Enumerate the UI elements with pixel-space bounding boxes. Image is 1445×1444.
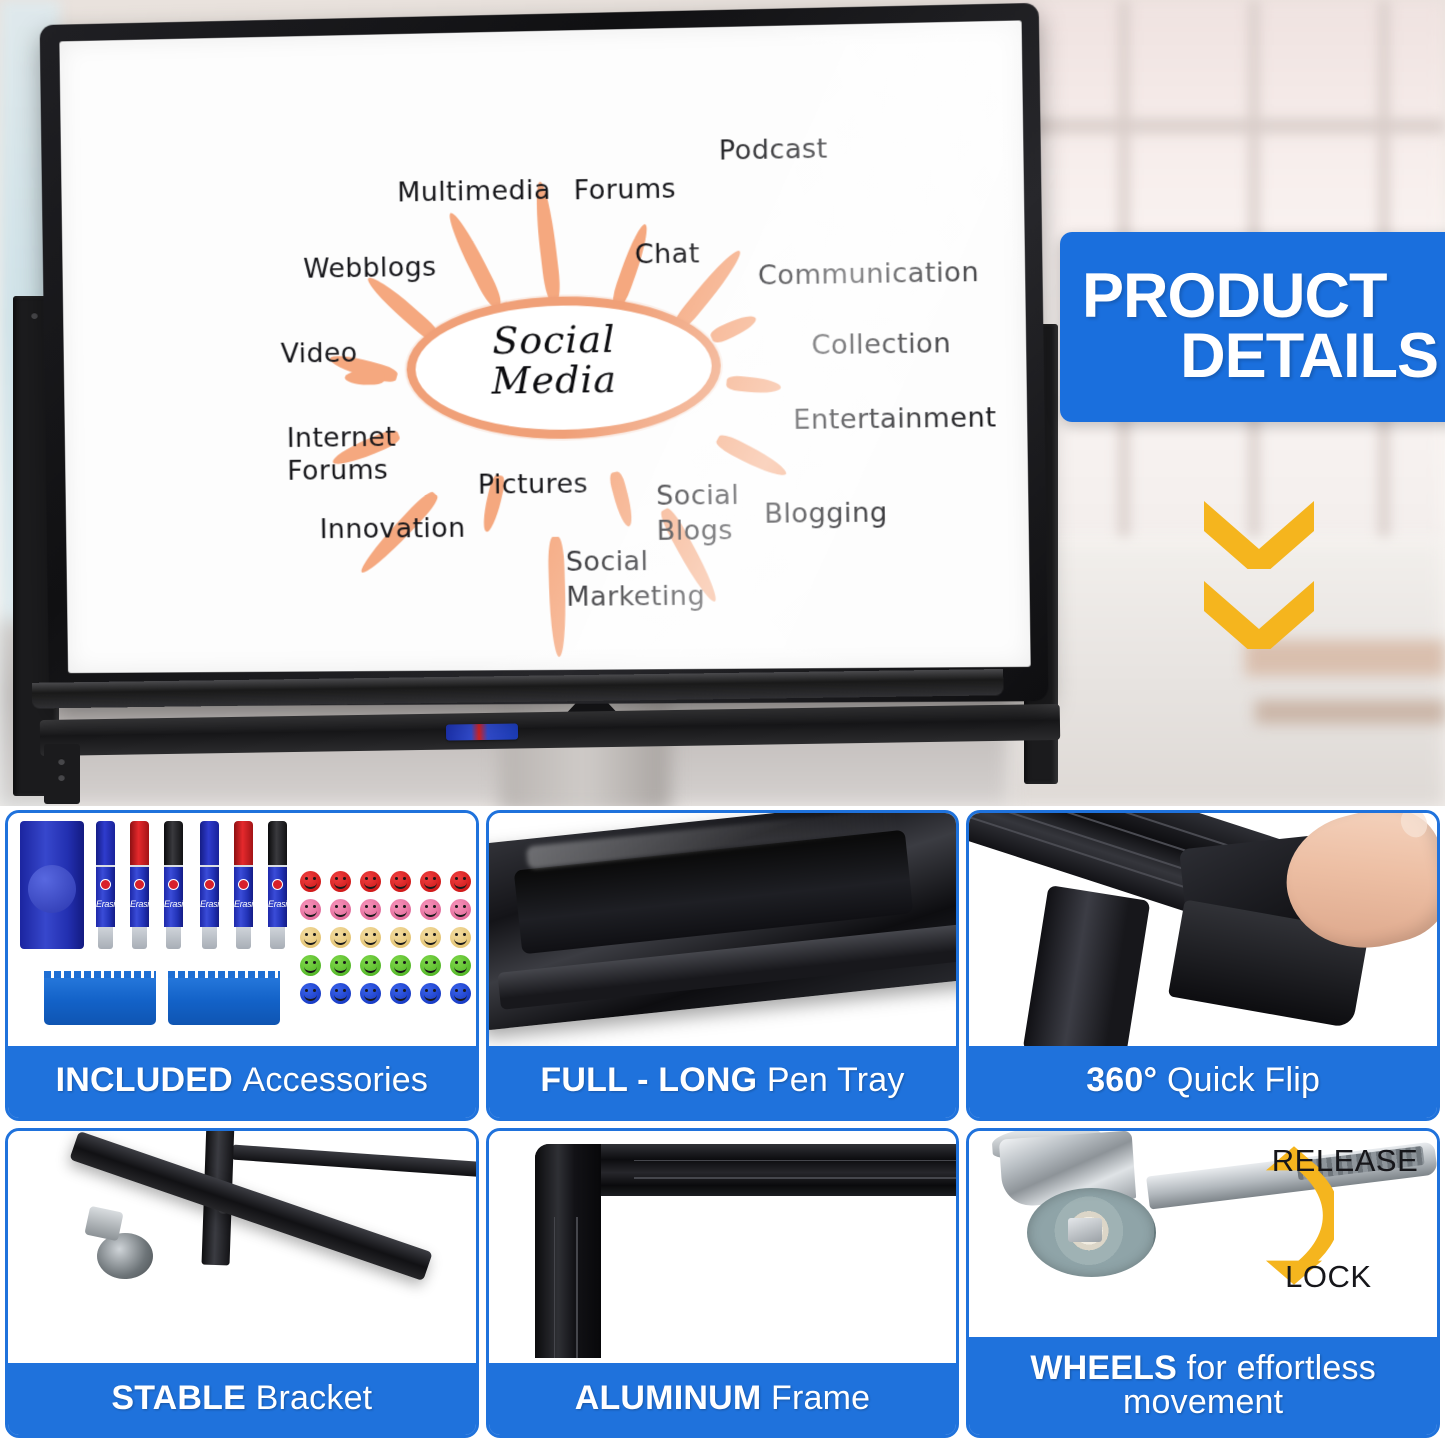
mindmap-node-communication: Communication xyxy=(758,258,980,292)
sunburst-ray xyxy=(726,375,782,395)
caption-rest: for effortless xyxy=(1187,1349,1376,1387)
eraser xyxy=(44,971,156,1025)
caption-rest: Frame xyxy=(771,1381,870,1416)
sunburst-ray xyxy=(714,432,790,481)
caster-assembly xyxy=(988,1135,1203,1284)
mindmap-center-line1: Social xyxy=(406,319,703,363)
hero-section: Social Media Podcast Multimedia Forums C… xyxy=(0,0,1445,806)
social-media-mindmap: Social Media Podcast Multimedia Forums C… xyxy=(59,20,1030,673)
included-accessories-photo: Erasing Erasing Erasing Erasing Erasing … xyxy=(8,813,476,1046)
caption-bold: 360° xyxy=(1086,1063,1157,1098)
sunburst-ray xyxy=(709,311,759,345)
whiteboard: Social Media Podcast Multimedia Forums C… xyxy=(40,3,1049,707)
caption-rest: Quick Flip xyxy=(1167,1063,1320,1098)
marker-black: Erasing xyxy=(268,821,287,949)
mindmap-node-innovation: Innovation xyxy=(319,514,465,546)
annotation-lock: LOCK xyxy=(1285,1259,1371,1295)
caption-quick-flip: 360° Quick Flip xyxy=(969,1046,1437,1118)
sunburst-ray xyxy=(444,209,505,309)
fingernail xyxy=(1396,813,1432,842)
pen-tray-photo xyxy=(489,813,957,1046)
wheels-photo: RELEASE LOCK xyxy=(969,1131,1437,1338)
mindmap-node-webblogs: Webblogs xyxy=(303,253,437,285)
caption-bold: STABLE xyxy=(111,1381,246,1416)
pen-on-tray xyxy=(446,723,518,740)
caption-included-accessories: INCLUDED Accessories xyxy=(8,1046,476,1118)
feature-card-included-accessories[interactable]: Erasing Erasing Erasing Erasing Erasing … xyxy=(5,810,479,1121)
mindmap-node-video: Video xyxy=(280,339,357,370)
feature-card-quick-flip[interactable]: 360° Quick Flip xyxy=(966,810,1440,1121)
caption-bold: INCLUDED xyxy=(56,1063,233,1098)
mindmap-node-blogging: Blogging xyxy=(764,498,888,530)
mindmap-node-internet: Internet xyxy=(287,423,397,454)
sunburst-ray xyxy=(345,370,385,385)
background-desk xyxy=(1255,700,1445,724)
mindmap-node-multimedia: Multimedia xyxy=(397,176,551,209)
feature-card-wheels[interactable]: RELEASE LOCK WHEELS for effortless movem… xyxy=(966,1128,1440,1439)
mindmap-node-chat: Chat xyxy=(635,239,700,270)
feature-card-stable-bracket[interactable]: STABLE Bracket xyxy=(5,1128,479,1439)
product-details-line2: DETAILS xyxy=(1082,327,1442,387)
whiteboard-surface: Social Media Podcast Multimedia Forums C… xyxy=(59,20,1030,673)
mindmap-node-marketing: Marketing xyxy=(566,582,705,613)
caption-stable-bracket: STABLE Bracket xyxy=(8,1363,476,1435)
marker-red: Erasing xyxy=(234,821,253,949)
caster-wheel xyxy=(97,1233,153,1280)
feature-card-pen-tray[interactable]: FULL - LONG Pen Tray xyxy=(486,810,960,1121)
product-details-line1: PRODUCT xyxy=(1082,267,1442,327)
mindmap-center-label: Social Media xyxy=(406,319,703,403)
feature-card-aluminum-frame[interactable]: ALUMINUM Frame xyxy=(486,1128,960,1439)
chevron-down-icon xyxy=(1196,497,1322,569)
mindmap-node-social-mkt: Social xyxy=(566,547,649,578)
marker-blue: Erasing xyxy=(96,821,115,949)
stand-foot-left xyxy=(44,744,80,804)
bracket-horizontal-rail xyxy=(232,1144,475,1178)
mindmap-node-forums: Forums xyxy=(573,174,676,206)
caption-bold: ALUMINUM xyxy=(575,1381,762,1416)
mindmap-node-social: Social xyxy=(656,481,739,512)
annotation-release: RELEASE xyxy=(1272,1143,1419,1179)
sunburst-ray xyxy=(608,470,636,528)
mindmap-node-collection: Collection xyxy=(811,329,951,361)
stable-bracket-photo xyxy=(8,1131,476,1364)
marker-black: Erasing xyxy=(164,821,183,949)
caption-wheels: WHEELS for effortless movement xyxy=(969,1337,1437,1435)
caption-line2: movement xyxy=(1123,1385,1283,1419)
caption-bold: WHEELS xyxy=(1030,1349,1177,1387)
caption-rest: Accessories xyxy=(243,1063,428,1098)
caption-bold: FULL - LONG xyxy=(540,1063,757,1098)
flip-post xyxy=(1022,885,1150,1045)
product-detail-infographic: Social Media Podcast Multimedia Forums C… xyxy=(0,0,1445,1444)
quick-flip-photo xyxy=(969,813,1437,1046)
eraser xyxy=(168,971,280,1025)
marker-red: Erasing xyxy=(130,821,149,949)
caption-pen-tray: FULL - LONG Pen Tray xyxy=(489,1046,957,1118)
caption-aluminum-frame: ALUMINUM Frame xyxy=(489,1363,957,1435)
frame-left-rail xyxy=(535,1144,600,1358)
caster-axle-nut xyxy=(1068,1218,1102,1242)
mindmap-node-internet-forums: Forums xyxy=(287,456,388,487)
caption-rest: Pen Tray xyxy=(767,1063,905,1098)
mindmap-node-podcast: Podcast xyxy=(719,134,828,166)
product-details-banner: PRODUCT DETAILS xyxy=(1060,232,1445,422)
mindmap-node-entertainment: Entertainment xyxy=(793,403,997,436)
mindmap-node-pictures: Pictures xyxy=(478,469,588,500)
frame-whiteboard-surface xyxy=(601,1196,956,1363)
chevron-down-icon xyxy=(1196,577,1322,649)
mindmap-center-line2: Media xyxy=(407,359,704,403)
sunburst-ray xyxy=(547,537,567,657)
feature-card-grid: Erasing Erasing Erasing Erasing Erasing … xyxy=(0,806,1445,1444)
mindmap-node-social-blogs: Blogs xyxy=(656,516,733,547)
marker-blue: Erasing xyxy=(200,821,219,949)
aluminum-frame-photo xyxy=(489,1131,957,1364)
marker-holder xyxy=(20,821,84,949)
caption-rest: Bracket xyxy=(256,1381,373,1416)
